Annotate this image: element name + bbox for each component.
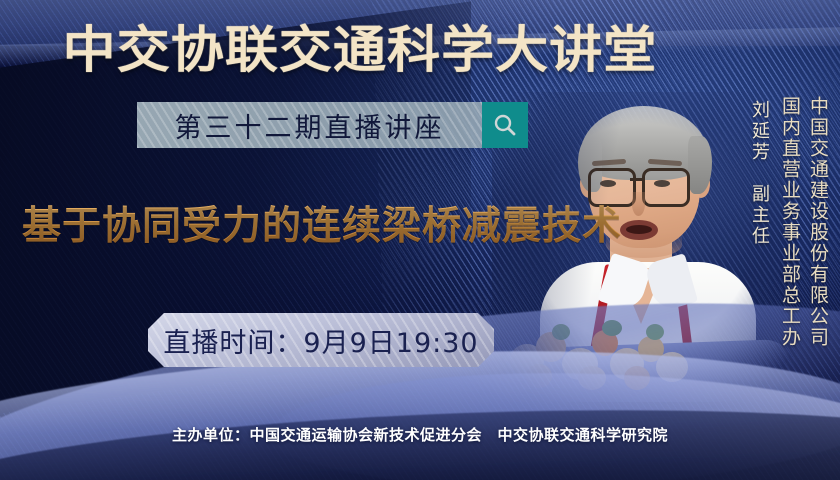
live-lecture-poster: 中交协联交通科学大讲堂 第三十二期直播讲座 基于协同受力的连续梁桥减震技术 直播… [0, 0, 840, 480]
episode-label: 第三十二期直播讲座 [175, 106, 445, 145]
page-title: 中交协联交通科学大讲堂 [0, 22, 742, 78]
lecture-topic-title: 基于协同受力的连续梁桥减震技术 [22, 203, 622, 251]
speaker-company: 中国交通建设股份有限公司 [805, 96, 832, 348]
search-button[interactable] [482, 102, 528, 148]
broadcast-time-badge: 直播时间：9月9日19:30 [148, 313, 494, 367]
speaker-department: 国内直营业务事业部总工办 [777, 96, 804, 348]
speaker-name-role: 刘延芳 副主任 [746, 100, 772, 247]
episode-banner: 第三十二期直播讲座 [137, 102, 482, 148]
broadcast-time-text: 直播时间：9月9日19:30 [163, 321, 478, 360]
organizer-footer: 主办单位：中国交通运输协会新技术促进分会 中交协联交通科学研究院 [0, 424, 840, 445]
search-icon [492, 112, 518, 138]
